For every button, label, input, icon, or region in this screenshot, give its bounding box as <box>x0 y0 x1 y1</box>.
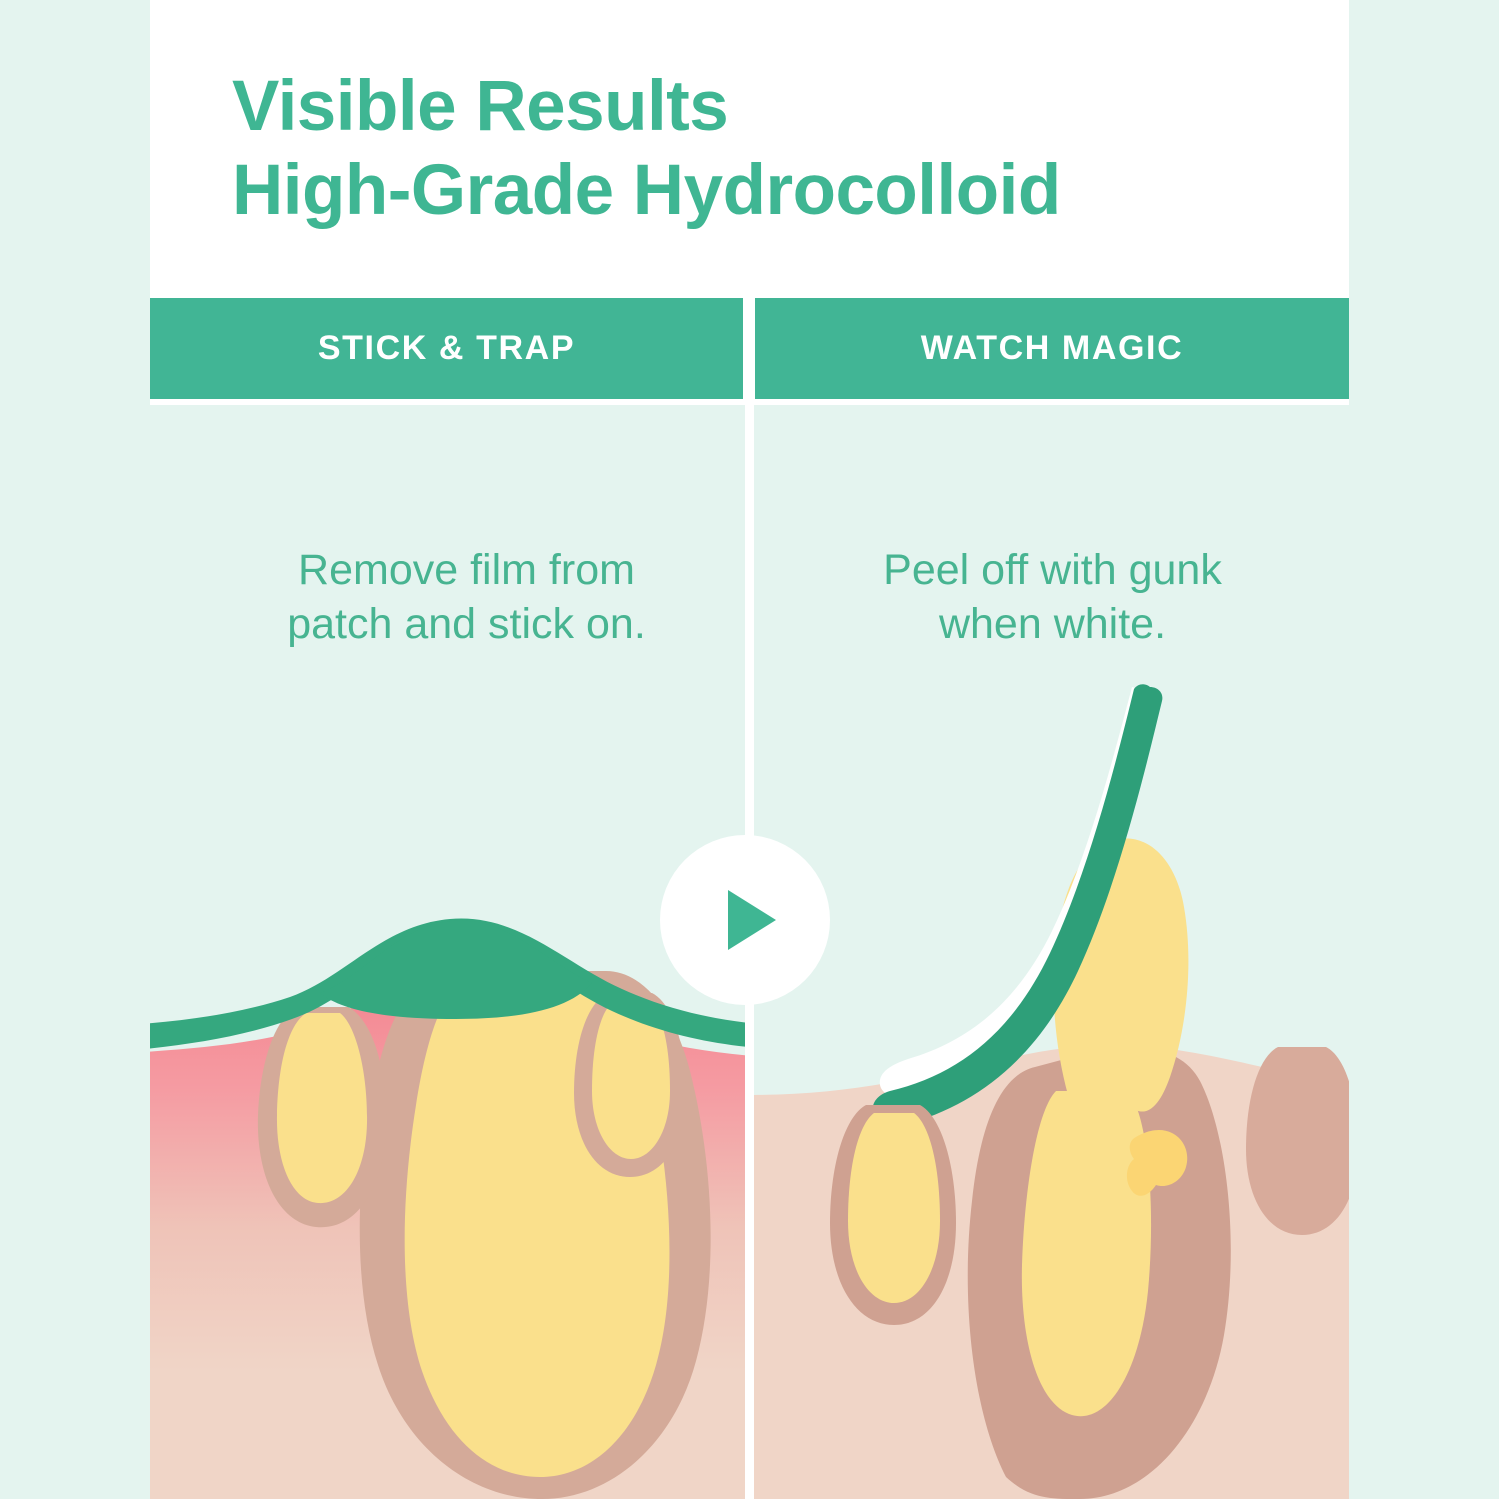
content-panel: Visible Results High-Grade Hydrocolloid … <box>150 0 1349 1499</box>
title-block: Visible Results High-Grade Hydrocolloid <box>150 0 1349 298</box>
caption-right-line-1: Peel off with gunk <box>756 543 1349 597</box>
illustration-stage: Remove film from patch and stick on. Pee… <box>150 405 1349 1499</box>
sebum-fill-small-right-1 <box>848 1113 940 1303</box>
caption-left-line-2: patch and stick on. <box>190 597 743 651</box>
page-title-line-1: Visible Results <box>232 65 1349 149</box>
page-title-line-2: High-Grade Hydrocolloid <box>232 149 1349 233</box>
column-header-row: STICK & TRAP WATCH MAGIC <box>150 298 1349 405</box>
pore-cleared-empty-right <box>1246 1047 1349 1235</box>
hydrocolloid-patch-dome-left <box>320 920 592 1019</box>
caption-stick-and-trap: Remove film from patch and stick on. <box>190 543 743 651</box>
caption-left-line-1: Remove film from <box>190 543 743 597</box>
column-header-label-left: STICK & TRAP <box>318 329 575 368</box>
play-triangle-icon <box>728 890 776 950</box>
infographic-root: Visible Results High-Grade Hydrocolloid … <box>0 0 1499 1499</box>
play-button[interactable] <box>660 835 830 1005</box>
right-illustration-group <box>750 684 1349 1499</box>
column-header-watch-magic: WATCH MAGIC <box>755 298 1349 399</box>
caption-watch-magic: Peel off with gunk when white. <box>756 543 1349 651</box>
caption-right-line-2: when white. <box>756 597 1349 651</box>
sebum-fill-small-left-1 <box>277 1013 367 1203</box>
column-header-label-right: WATCH MAGIC <box>921 329 1184 368</box>
column-header-stick-and-trap: STICK & TRAP <box>150 298 743 399</box>
